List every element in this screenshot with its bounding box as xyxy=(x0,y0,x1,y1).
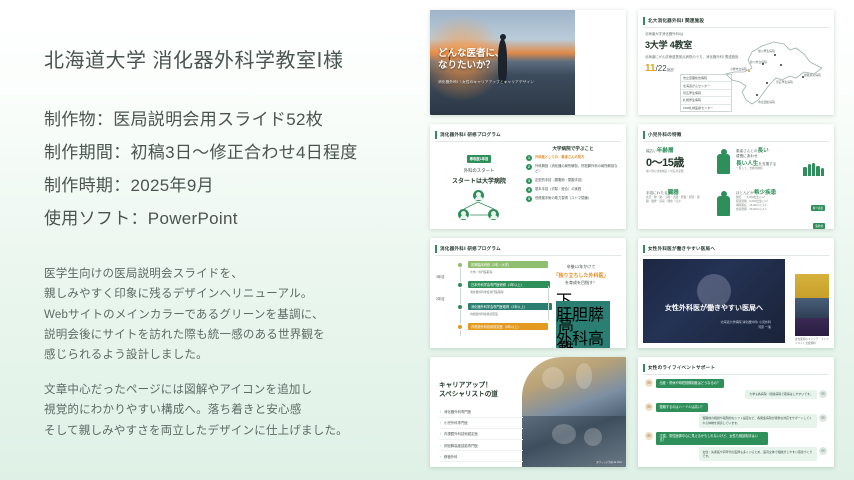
career-text-column: キャリアアップ！ スペシャリストの道 消化器外科専門医 小児外科専門医 内視鏡外… xyxy=(439,381,523,462)
doctor-avatar-icon xyxy=(819,447,827,455)
map-caption-2: 北海道にがん診療連携拠点病院のうち、消化器外科Ⅰ 関連施設 xyxy=(645,55,711,60)
learning-item-label: 低侵襲手術の助力習得（ストマ閉鎖） xyxy=(535,196,591,201)
map-label: 市立函館病院 xyxy=(758,100,775,104)
quadrant-caption-text: 幅広い xyxy=(646,149,657,153)
slide-title: 女性外科医が働きやすい医局へ xyxy=(648,246,715,252)
accent-bar-icon xyxy=(643,131,645,139)
map-stat-universities: 3大学 4教室 xyxy=(645,38,711,51)
accent-bar-icon xyxy=(643,245,645,253)
photo-caption: 女性外科医が働きやすい医局へ xyxy=(643,303,785,313)
family-group-icon xyxy=(803,162,824,176)
timeline-year: 3年目 xyxy=(436,274,445,279)
qualification-item: 消化器外科専門医 xyxy=(439,406,523,417)
program-headline: スタートは大学病院 xyxy=(438,176,520,185)
hero-subtitle: 消化器外科Ⅰ｜女性のキャリアアップとキャリアデザイン xyxy=(438,80,534,85)
answer-bubble: 大学も各病院・関連病院で取得はしやすいです。 xyxy=(745,390,816,400)
step-number-icon: 1 xyxy=(526,155,532,161)
person-icon xyxy=(717,154,730,174)
program-subhead: 外科のスタート xyxy=(438,168,520,174)
accent-bar-icon xyxy=(643,364,645,372)
client-title: 北海道大学 消化器外科学教室Ⅰ様 xyxy=(44,44,424,73)
branch-axis xyxy=(548,286,549,320)
header-divider xyxy=(435,255,621,256)
learning-item: 2 外科解剖（消化器の局所解剖、肝胆膵外科の局所解剖など） xyxy=(526,164,620,174)
feature-quadrant-rare: ほとんどが希少疾患 鎖肛 5,000出生に1人 胆道閉鎖 9,000出生に1人 … xyxy=(736,188,826,229)
timeline-bar: 初期臨床研修（2年／大学） xyxy=(468,261,548,268)
map-stat-fraction: 11/22施設 xyxy=(645,63,711,74)
answer-bubble: 女性・先輩医や同年代の医師も多くいるため、医局全体で相談がしやすい環境づくりです… xyxy=(699,447,817,461)
quadrant-caption-text: ほとんどが xyxy=(736,191,754,195)
person-icon xyxy=(717,196,730,216)
slide-thumbnail-career[interactable]: ©️ダヴィンチ手術 da Vinci キャリアアップ！ スペシャリストの道 消化… xyxy=(430,357,626,467)
learning-item-label: 外科解剖（消化器の局所解剖、肝胆膵外科の局所解剖など） xyxy=(535,164,620,174)
qa-question-row: 復職するのはハードルは高い？ xyxy=(645,403,827,412)
hokkaido-map: 旭川厚生病院 砂川市立病院 小樽市立病院 帯広厚生病院 釧路労災病院 市立函館病… xyxy=(718,30,830,112)
timeline-node xyxy=(457,282,463,288)
photo-credit: ©️ダヴィンチ手術 da Vinci xyxy=(593,460,622,464)
presentation-showcase: 北海道大学 消化器外科学教室Ⅰ様 制作物：医局説明会用スライド52枚 制作期間：… xyxy=(0,0,854,480)
timeline-node xyxy=(457,304,463,310)
quadrant-caption: 患者さんとの長い xyxy=(736,146,826,154)
description-line: Webサイトのメインカラーであるグリーンを基調に、 xyxy=(44,305,424,325)
accent-bar-icon xyxy=(435,245,437,253)
career-qualification-list: 消化器外科専門医 小児外科専門医 内視鏡外科技術認定医 肝胆膵高度技能専門医 移… xyxy=(439,406,523,462)
pill-badge: 集約化 xyxy=(813,223,825,228)
description-line: 視覚的にわかりやすい構成へ。落ち着きと安心感 xyxy=(44,400,424,420)
map-stats: 北海道大学消化器外科Ⅰは 3大学 4教室 北海道にがん診療連携拠点病院のうち、消… xyxy=(645,32,711,74)
feature-quadrant-age: 幅広い年齢層 0〜15歳 成人例も含め幅広く対応が必要 xyxy=(646,146,736,188)
career-heading-1: キャリアアップ！ xyxy=(439,381,523,390)
step-number-icon: 5 xyxy=(526,196,532,202)
slide-thumbnail-program-a[interactable]: 消化器外科Ⅰ 研修プログラム 専攻医1年目 外科のスタート スタートは大学病院 … xyxy=(430,124,626,229)
spec-item-duration: 制作期間：初稿3日〜修正合わせ4日程度 xyxy=(44,136,424,169)
qa-answer-row: 復職前の相談や段階的なシフト設定など、各関連病院が柔軟な対応をサポートしてくれる… xyxy=(645,414,827,428)
learning-item: 1 外科医としての、患者さんの見方 xyxy=(526,155,620,161)
goal-line-2: 「独り立ちした外科医」 xyxy=(544,272,618,279)
qa-answer-row: 女性・先輩医や同年代の医師も多くいるため、医局全体で相談がしやすい環境づくりです… xyxy=(645,447,827,461)
feature-quadrant-organs: 手技にわたる臓器 先天・肺・腸／小腸・大腸・肝臓・胆道・膵臓・腹壁・泌尿・腫瘍・… xyxy=(646,188,736,229)
learning-item: 5 低侵襲手術の助力習得（ストマ閉鎖） xyxy=(526,196,620,202)
question-bubble: 出産・育休や時短勤務制度はどうなるの？ xyxy=(656,379,725,388)
side-thumb-purple xyxy=(795,318,829,336)
learning-item-label: 基本手技（切除・縫合）の実践 xyxy=(535,187,581,192)
step-number-icon: 2 xyxy=(526,164,532,170)
learning-item: 4 基本手技（切除・縫合）の実践 xyxy=(526,187,620,193)
slide-header: 消化器外科Ⅰ 研修プログラム xyxy=(435,243,621,254)
spec-list: 制作物：医局説明会用スライド52枚 制作期間：初稿3日〜修正合わせ4日程度 制作… xyxy=(44,103,424,236)
photo-byline: 北海道大学病院 消化器外科Ⅰ 小児外科 河原 一憲 xyxy=(720,320,771,330)
timeline-node xyxy=(457,324,463,330)
slide-header: 女性外科医が働きやすい医局へ xyxy=(643,243,829,254)
description-line: 文章中心だったページには図解やアイコンを追加し xyxy=(44,380,424,400)
qualification-item: 内視鏡外科技術認定医 xyxy=(439,429,523,440)
rare-pills: 希少疾患 集約化 症例経験 xyxy=(811,196,825,229)
timeline-year: 2年目 xyxy=(436,296,445,301)
connector-lines-icon xyxy=(438,190,520,229)
timeline-node xyxy=(457,262,463,268)
slide-thumbnail-grid: どんな医者に、 なりたいか？ 消化器外科Ⅰ｜女性のキャリアアップとキャリアデザイ… xyxy=(430,10,840,470)
byline-name: 河原 一憲 xyxy=(720,325,771,330)
slide-thumbnail-female-surgeon[interactable]: 女性外科医が働きやすい医局へ 女性外科医が働きやすい医局へ 北海道大学病院 消化… xyxy=(638,238,834,348)
description-line: 感じられるよう設計しました。 xyxy=(44,345,424,365)
program-left-column: 専攻医1年目 外科のスタート スタートは大学病院 一年次研修から一緒に働く同期な… xyxy=(438,147,520,229)
map-caption-1: 北海道大学消化器外科Ⅰは xyxy=(645,32,711,37)
timeline-goal-box: 卒後12年かけて 「独り立ちした外科医」 を育成を目指す！ xyxy=(544,264,618,286)
spec-item-software: 使用ソフト：PowerPoint xyxy=(44,202,424,235)
step-number-icon: 3 xyxy=(526,178,532,184)
timeline-bar: 消化器外科学会専門医取得（3年以上） xyxy=(468,303,552,310)
quadrant-caption-text: 患者さんとの xyxy=(736,149,758,153)
learning-item-label: 外科医としての、患者さんの見方 xyxy=(535,155,584,160)
description-line: そして親しみやすさを両立したデザインに仕上げました。 xyxy=(44,421,424,441)
quadrant-caption-text: 手技にわたる xyxy=(646,191,668,195)
map-label: 釧路労災病院 xyxy=(804,73,821,77)
quadrant-emphasis: 長い xyxy=(758,148,769,154)
slide-title: 小児外科の特徴 xyxy=(648,132,682,138)
side-thumb-note: 女性医師のキャリア・ライフイベント支援資料 xyxy=(795,336,829,346)
goal-line-1: 卒後12年かけて xyxy=(544,264,618,270)
step-number-icon: 4 xyxy=(526,187,532,193)
slide-title: 女性のライフイベントサポート xyxy=(648,365,715,371)
timeline-bar: 日本外科学会専門医研修（3年以上） xyxy=(468,281,550,288)
hero-line-1: どんな医者に、 xyxy=(438,48,504,60)
slide-thumbnail-pediatric[interactable]: 小児外科の特徴 幅広い年齢層 0〜15歳 成人例も含め幅広く対応が必要 患者さん… xyxy=(638,124,834,229)
question-bubble: 正直、男性医師中心に見えるかもしれないけど、女性も相談相手はいる？ xyxy=(656,432,768,446)
description-line: 医学生向けの医局説明会スライドを、 xyxy=(44,264,424,284)
slide-title: 消化器外科Ⅰ 研修プログラム xyxy=(440,132,501,138)
description-line: 親しみやすく印象に残るデザインへリニューアル。 xyxy=(44,284,424,304)
student-avatar-icon xyxy=(645,403,653,411)
accent-bar-icon xyxy=(643,17,645,25)
timeline-bar: 内視鏡外科技術認定医（5年以上） xyxy=(468,323,548,330)
qualification-item: 小児外科専門医 xyxy=(439,418,523,429)
program-right-column: 大学病院で学ぶこと 1 外科医としての、患者さんの見方 2 外科解剖（消化器の局… xyxy=(526,146,620,206)
spec-item-deliverable: 制作物：医局説明会用スライド52枚 xyxy=(44,103,424,136)
quadrant-tail: を支援する xyxy=(758,162,776,166)
header-divider xyxy=(435,141,621,142)
timeline-caption: 消化器外科学会専門医取得 xyxy=(470,290,504,294)
qa-question-row: 出産・育休や時短勤務制度はどうなるの？ xyxy=(645,379,827,388)
slide-thumbnail-qa[interactable]: 女性のライフイベントサポート 出産・育休や時短勤務制度はどうなるの？ 大学も各病… xyxy=(638,357,834,467)
qa-question-row: 正直、男性医師中心に見えるかもしれないけど、女性も相談相手はいる？ xyxy=(645,432,827,446)
header-divider xyxy=(643,27,829,28)
learning-item: 3 定型的手技（開腹術・閉腹手技） xyxy=(526,178,620,184)
slide-thumbnail-timeline[interactable]: 消化器外科Ⅰ 研修プログラム 3年目 2年目 初期臨床研修（2年／大学） 大学／… xyxy=(430,238,626,348)
career-heading-2: スペシャリストの道 xyxy=(439,390,523,399)
map-label: 旭川厚生病院 xyxy=(758,49,775,53)
learning-item-label: 定型的手技（開腹術・閉腹手技） xyxy=(535,178,584,183)
pill-badge: 希少疾患 xyxy=(811,205,825,210)
header-divider xyxy=(643,141,829,142)
branch-caption: 高難度手術指導／手技 xyxy=(558,311,574,348)
accent-bar-icon xyxy=(435,131,437,139)
slide-header: 北大消化器外科Ⅰ 関連施設 xyxy=(643,15,829,26)
side-thumb-gold xyxy=(795,274,829,298)
qa-answer-row: 大学も各病院・関連病院で取得はしやすいです。 xyxy=(645,390,827,400)
fraction-numerator: 11 xyxy=(645,63,656,74)
slide-title: 消化器外科Ⅰ 研修プログラム xyxy=(440,246,501,252)
slide-header: 女性のライフイベントサポート xyxy=(643,362,829,373)
doctor-avatar-icon xyxy=(819,414,827,422)
left-copy-panel: 北海道大学 消化器外科学教室Ⅰ様 制作物：医局説明会用スライド52枚 制作期間：… xyxy=(44,44,424,441)
slide-thumbnail-map[interactable]: 北大消化器外科Ⅰ 関連施設 北海道大学消化器外科Ⅰは 3大学 4教室 北海道にが… xyxy=(638,10,834,115)
qa-conversation: 出産・育休や時短勤務制度はどうなるの？ 大学も各病院・関連病院で取得はしやすいで… xyxy=(645,379,827,462)
student-avatar-icon xyxy=(645,432,653,440)
surgeon-photo: 女性外科医が働きやすい医局へ 北海道大学病院 消化器外科Ⅰ 小児外科 河原 一憲 xyxy=(643,259,785,343)
timeline-caption: 大学／専門医取得 xyxy=(470,270,492,274)
side-thumb-blue xyxy=(795,298,829,318)
answer-bubble: 復職前の相談や段階的なシフト設定など、各関連病院が柔軟な対応をサポートしてくれる… xyxy=(699,414,817,428)
career-photo-stack: ©️ダヴィンチ手術 da Vinci xyxy=(522,357,626,467)
description-block: 医学生向けの医局説明会スライドを、 親しみやすく印象に残るデザインへリニューアル… xyxy=(44,264,424,442)
team-diagram xyxy=(438,190,520,229)
quadrant-caption: ほとんどが希少疾患 xyxy=(736,188,826,196)
qualification-item: 肝胆膵高度技能専門医 xyxy=(439,440,523,451)
student-avatar-icon xyxy=(645,379,653,387)
quadrant-fine: 先天・肺・腸／小腸・大腸・肝臓・胆道・膵臓・腹壁・泌尿・腫瘍・ほか xyxy=(646,196,704,204)
side-thumbnail-strip: 女性医師のキャリア・ライフイベント支援資料 xyxy=(795,274,829,346)
slide-title: 北大消化器外科Ⅰ 関連施設 xyxy=(648,18,704,24)
slide-header: 小児外科の特徴 xyxy=(643,129,829,140)
spec-item-period: 制作時期：2025年9月 xyxy=(44,169,424,202)
header-divider xyxy=(643,255,829,256)
map-label: 砂川市立病院 xyxy=(750,60,767,64)
year-chip: 専攻医1年目 xyxy=(467,155,492,163)
slide-thumbnail-hero[interactable]: どんな医者に、 なりたいか？ 消化器外科Ⅰ｜女性のキャリアアップとキャリアデザイ… xyxy=(430,10,626,115)
description-line: 説明会後にサイトを訪れた際も統一感のある世界観を xyxy=(44,325,424,345)
slide-header: 消化器外科Ⅰ 研修プログラム xyxy=(435,129,621,140)
hero-headline: どんな医者に、 なりたいか？ xyxy=(438,48,504,72)
question-bubble: 復職するのはハードルは高い？ xyxy=(656,403,709,412)
learning-heading: 大学病院で学ぶこと xyxy=(526,146,620,152)
map-label: 帯広厚生病院 xyxy=(776,80,793,84)
fraction-unit: 施設 xyxy=(667,68,674,72)
timeline-caption: 内視鏡外科技術認定医 xyxy=(470,312,498,316)
doctor-avatar-icon xyxy=(819,390,827,398)
header-divider xyxy=(643,374,829,375)
goal-line-3: を育成を目指す！ xyxy=(544,280,618,286)
feature-quadrant-longterm: 患者さんとの長い 成長にあわせ 長い人生を支援する 一貫して、治療を継続 xyxy=(736,146,826,188)
fraction-denominator: /22 xyxy=(656,64,667,73)
hero-line-2: なりたいか？ xyxy=(438,60,504,72)
robot-surgery-photo xyxy=(522,357,626,416)
map-label: 小樽市立病院 xyxy=(730,67,747,71)
qualification-item: 移植外科 xyxy=(439,451,523,462)
